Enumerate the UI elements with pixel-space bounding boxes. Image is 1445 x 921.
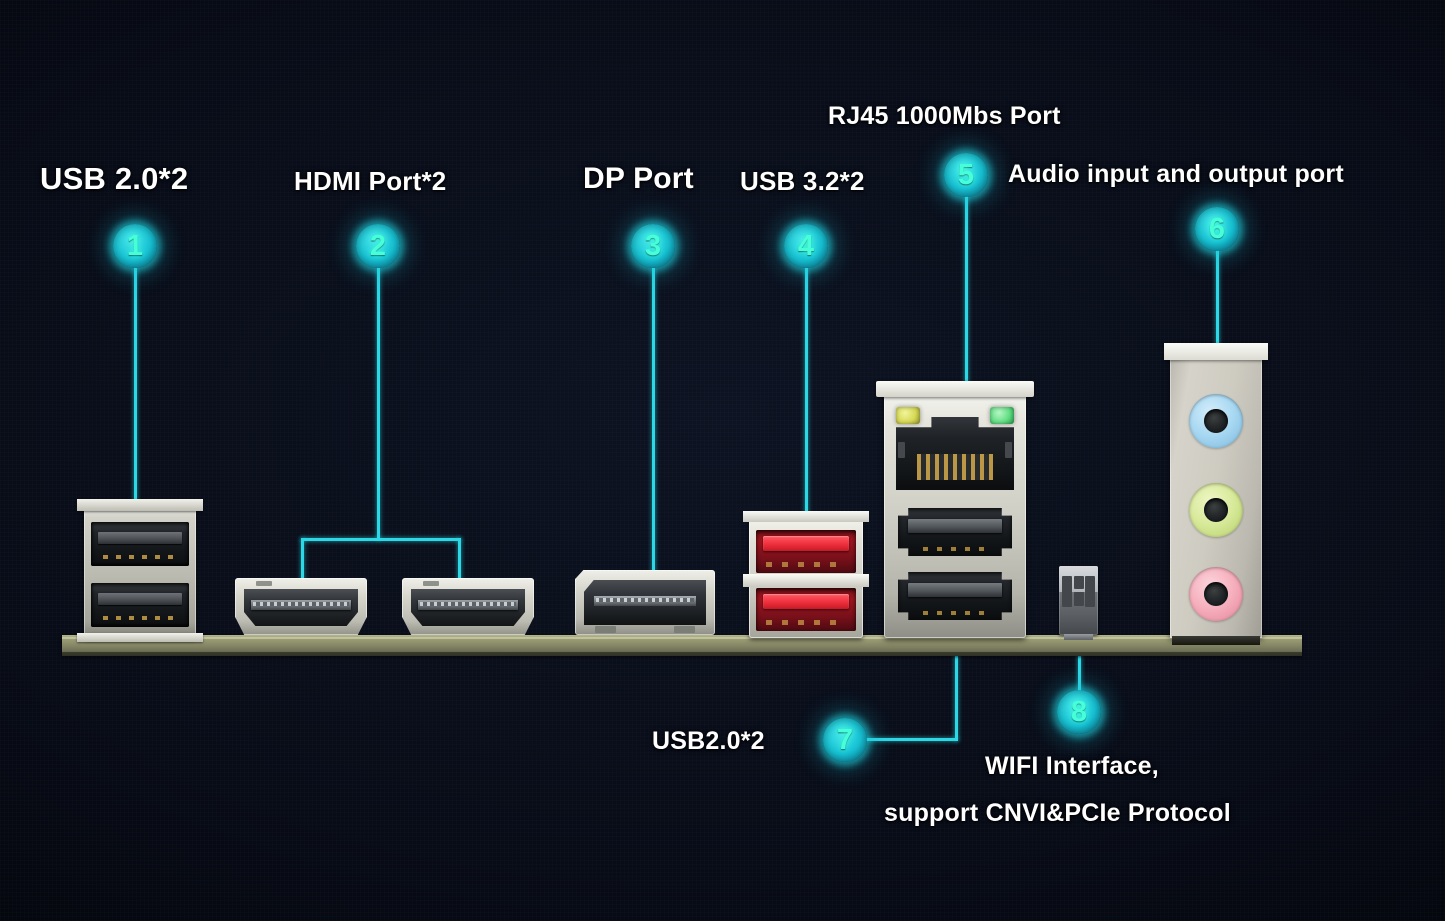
usb2-left-bottom-lip — [77, 633, 203, 642]
hdmi-1-cavity — [244, 589, 358, 626]
usb2-left-pins-upper — [103, 555, 178, 559]
hdmi-2-cavity — [411, 589, 525, 626]
rj45-led-right — [990, 407, 1014, 424]
usb2-left-tongue-upper — [98, 532, 182, 544]
lan-stack-top-cap — [876, 381, 1034, 397]
hdmi-2-top-tab — [423, 581, 439, 586]
usb32-slot-lower[interactable] — [756, 588, 856, 631]
port-displayport[interactable] — [575, 570, 715, 635]
wifi-pad-3 — [1074, 592, 1084, 606]
callout-badge-3[interactable]: 3 — [631, 224, 675, 268]
label-audio: Audio input and output port — [1008, 160, 1344, 189]
callout-badge-4[interactable]: 4 — [784, 224, 828, 268]
port-lan-usb-stack[interactable] — [884, 390, 1026, 638]
audio-jack-line-out[interactable] — [1189, 483, 1243, 537]
port-rj45[interactable] — [896, 417, 1014, 490]
usb32-top-lip — [743, 511, 869, 522]
port-usb2-right-lower[interactable] — [898, 572, 1012, 620]
dp-cavity — [584, 580, 706, 625]
port-audio-bracket[interactable] — [1170, 355, 1262, 638]
leader-line-7-horizontal — [866, 738, 958, 741]
io-panel-diagram: USB 2.0*2 HDMI Port*2 DP Port USB 3.2*2 … — [0, 0, 1445, 921]
audio-jack-line-in[interactable] — [1189, 394, 1243, 448]
callout-badge-8[interactable]: 8 — [1057, 690, 1101, 734]
wifi-pad-2 — [1074, 576, 1084, 590]
usb32-mid-lip — [743, 574, 869, 587]
callout-badge-1[interactable]: 1 — [113, 224, 157, 268]
port-usb32[interactable] — [749, 516, 863, 638]
port-hdmi-1[interactable] — [235, 578, 367, 635]
usb32-pins-upper — [766, 562, 846, 567]
usb32-slot-upper[interactable] — [756, 530, 856, 573]
wifi-pad-1 — [1062, 576, 1072, 608]
hdmi-2-contact-bar — [418, 600, 518, 610]
usb2-left-tongue-lower — [98, 593, 182, 605]
usb32-tongue-lower — [763, 594, 849, 609]
usb2-right-pins-lower — [923, 611, 987, 615]
rj45-clip-left — [898, 442, 905, 458]
audio-top-cap — [1164, 343, 1268, 360]
usb2-left-slot-upper[interactable] — [91, 522, 189, 566]
callout-badge-6[interactable]: 6 — [1195, 207, 1239, 251]
label-wifi-line2: support CNVI&PCIe Protocol — [884, 799, 1231, 828]
callout-badge-2[interactable]: 2 — [356, 224, 400, 268]
port-usb2-right-upper[interactable] — [898, 508, 1012, 556]
pcb-shadow — [62, 652, 1302, 656]
usb32-pins-lower — [766, 620, 846, 625]
usb32-tongue-upper — [763, 536, 849, 551]
port-hdmi-2[interactable] — [402, 578, 534, 635]
wifi-footer — [1064, 634, 1094, 640]
usb2-right-pins-upper — [923, 547, 987, 551]
leader-line-4 — [805, 268, 808, 536]
pcb-highlight — [62, 637, 1302, 639]
usb2-left-pins-lower — [103, 616, 178, 620]
hdmi-1-top-tab — [256, 581, 272, 586]
wifi-pad-4 — [1085, 576, 1095, 608]
port-usb2-left[interactable] — [84, 505, 196, 638]
label-usb32: USB 3.2*2 — [740, 166, 865, 197]
audio-jack-microphone[interactable] — [1189, 567, 1243, 621]
leader-line-2-stem — [377, 268, 380, 540]
rj45-clip-right — [1005, 442, 1012, 458]
hdmi-1-contact-bar — [251, 600, 351, 610]
usb2-left-top-lip — [77, 499, 203, 511]
usb2-right-tongue-lower — [908, 583, 1002, 597]
dp-notch-left — [595, 626, 616, 633]
pcb-base-strip — [62, 635, 1302, 656]
callout-badge-7[interactable]: 7 — [823, 718, 867, 762]
rj45-led-left — [896, 407, 920, 424]
label-dp: DP Port — [583, 162, 694, 196]
label-usb2-left: USB 2.0*2 — [40, 161, 188, 197]
dp-notch-right — [674, 626, 695, 633]
label-wifi-line1: WIFI Interface, — [985, 752, 1159, 781]
port-wifi-header[interactable] — [1059, 566, 1098, 635]
label-hdmi: HDMI Port*2 — [294, 166, 446, 197]
usb2-right-tongue-upper — [908, 519, 1002, 533]
dp-contact-bar — [594, 596, 697, 606]
audio-jack-microphone-hole — [1204, 582, 1229, 607]
audio-jack-line-out-hole — [1204, 498, 1229, 523]
leader-line-2-crossbar — [301, 538, 461, 541]
audio-jack-line-in-hole — [1204, 409, 1229, 434]
usb2-left-slot-lower[interactable] — [91, 583, 189, 627]
audio-bottom-cap — [1172, 636, 1260, 645]
callout-badge-5[interactable]: 5 — [944, 153, 988, 197]
label-rj45: RJ45 1000Mbs Port — [828, 102, 1061, 131]
leader-line-3 — [652, 268, 655, 598]
label-usb2-right: USB2.0*2 — [652, 727, 765, 756]
rj45-gold-pins — [917, 454, 993, 480]
